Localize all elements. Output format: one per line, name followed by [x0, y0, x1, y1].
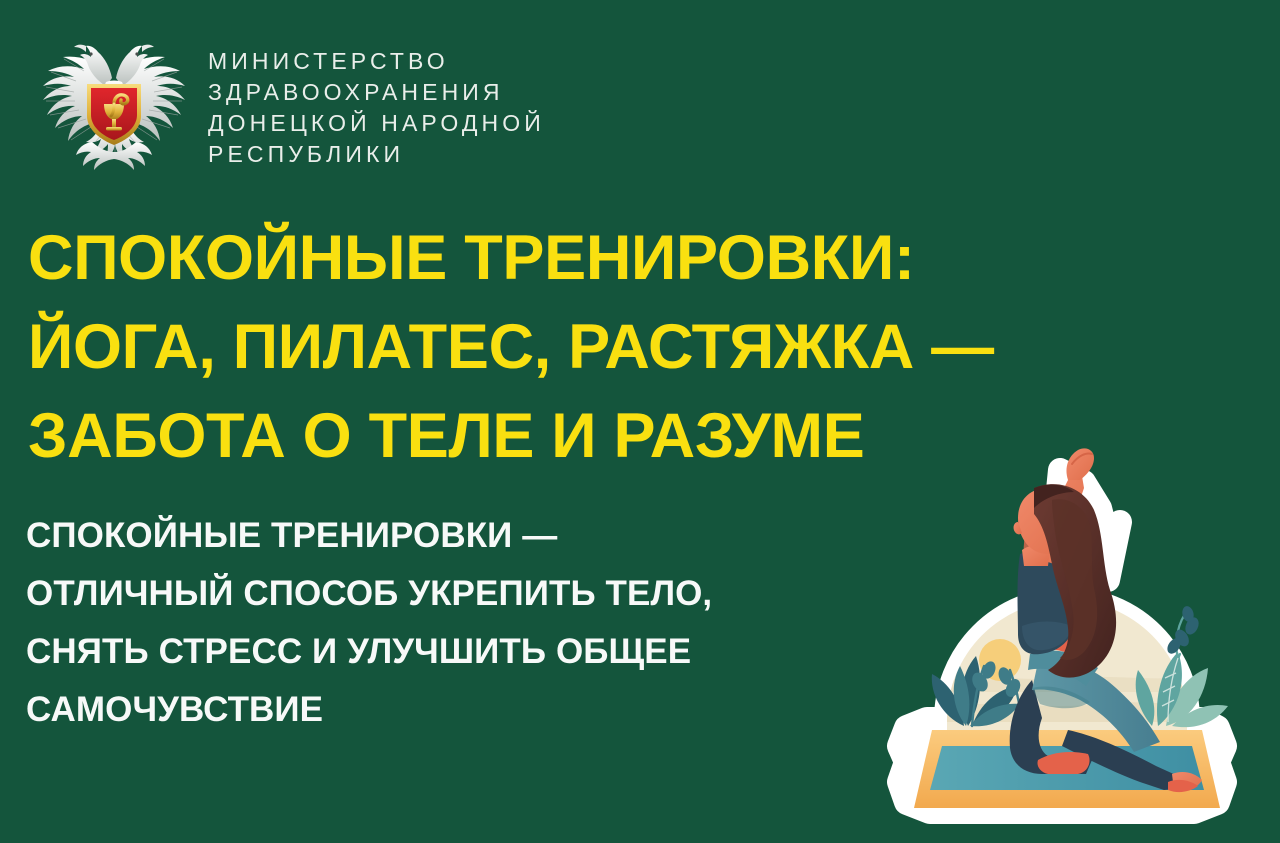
ministry-header-lockup: МИНИСТЕРСТВО ЗДРАВООХРАНЕНИЯ ДОНЕЦКОЙ НА… [34, 22, 545, 174]
subtitle-line-1: СПОКОЙНЫЕ ТРЕНИРОВКИ — [26, 507, 956, 565]
headline-line-2: ЙОГА, ПИЛАТЕС, РАСТЯЖКА — [28, 303, 1188, 392]
subtitle-block: СПОКОЙНЫЕ ТРЕНИРОВКИ — ОТЛИЧНЫЙ СПОСОБ У… [26, 507, 956, 739]
ministry-line-1: МИНИСТЕРСТВО [208, 46, 545, 77]
ministry-line-4: РЕСПУБЛИКИ [208, 139, 545, 170]
subtitle-line-4: САМОЧУВСТВИЕ [26, 681, 956, 739]
ministry-name-block: МИНИСТЕРСТВО ЗДРАВООХРАНЕНИЯ ДОНЕЦКОЙ НА… [208, 22, 545, 170]
ministry-line-2: ЗДРАВООХРАНЕНИЯ [208, 77, 545, 108]
subtitle-line-3: СНЯТЬ СТРЕСС И УЛУЧШИТЬ ОБЩЕЕ [26, 623, 956, 681]
poster-canvas: МИНИСТЕРСТВО ЗДРАВООХРАНЕНИЯ ДОНЕЦКОЙ НА… [0, 0, 1280, 843]
headline-line-1: СПОКОЙНЫЕ ТРЕНИРОВКИ: [28, 214, 1188, 303]
subtitle-line-2: ОТЛИЧНЫЙ СПОСОБ УКРЕПИТЬ ТЕЛО, [26, 565, 956, 623]
yoga-illustration [872, 430, 1262, 835]
ministry-emblem-icon [34, 24, 194, 176]
ministry-line-3: ДОНЕЦКОЙ НАРОДНОЙ [208, 108, 545, 139]
